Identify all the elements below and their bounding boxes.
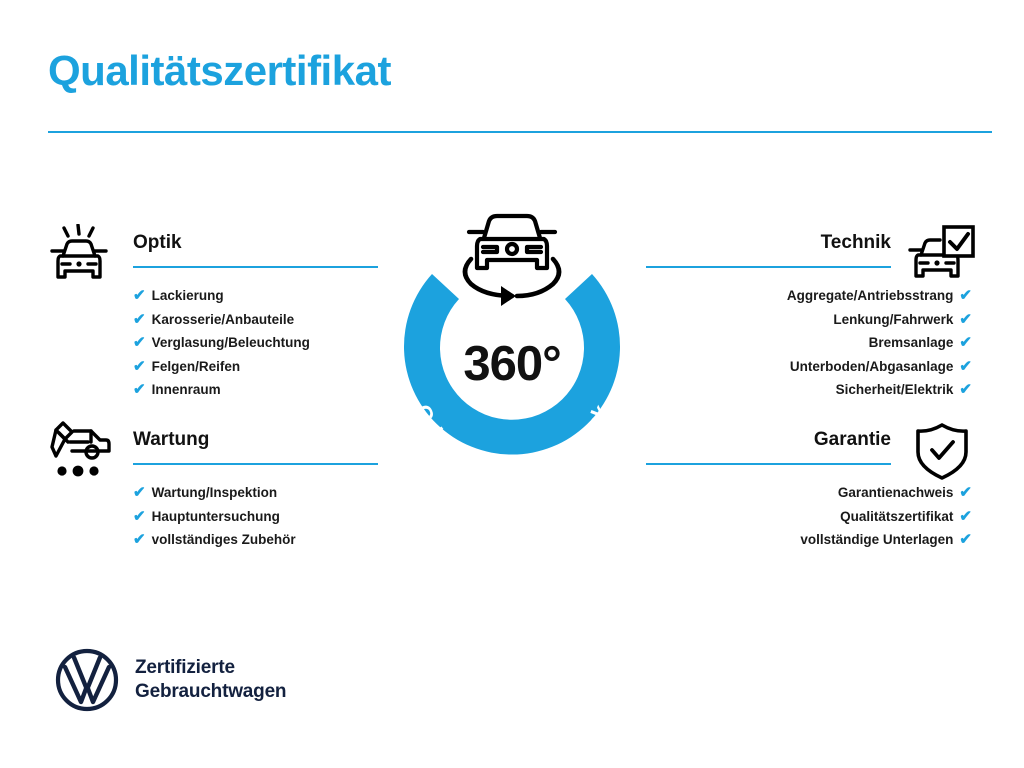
list-item: ✔vollständiges Zubehör <box>48 528 378 552</box>
car-shine-icon <box>48 224 116 286</box>
checklist-garantie: Garantienachweis✔ Qualitätszertifikat✔ v… <box>646 473 976 552</box>
list-item: ✔Karosserie/Anbauteile <box>48 308 378 332</box>
check-icon: ✔ <box>133 532 146 547</box>
list-item: Lenkung/Fahrwerk✔ <box>646 308 976 332</box>
checklist-technik: Aggregate/Antriebsstrang✔ Lenkung/Fahrwe… <box>646 276 976 402</box>
check-icon: ✔ <box>959 382 972 397</box>
checklist-optik: ✔Lackierung ✔Karosserie/Anbauteile ✔Verg… <box>48 276 378 402</box>
section-underline-wartung <box>133 463 378 465</box>
section-underline-optik <box>133 266 378 268</box>
pencil-car-service-icon <box>48 421 116 483</box>
list-item-label: Wartung/Inspektion <box>152 481 278 505</box>
section-underline-technik <box>646 266 891 268</box>
car-checkbox-icon <box>908 224 976 286</box>
list-item: ✔Innenraum <box>48 378 378 402</box>
list-item: Garantienachweis✔ <box>646 481 976 505</box>
check-icon: ✔ <box>133 382 146 397</box>
list-item-label: Lenkung/Fahrwerk <box>833 308 953 332</box>
vw-logo-icon <box>55 648 119 712</box>
checklist-wartung: ✔Wartung/Inspektion ✔Hauptuntersuchung ✔… <box>48 473 378 552</box>
vw-logo-lockup: Zertifizierte Gebrauchtwagen <box>55 648 286 712</box>
list-item-label: Karosserie/Anbauteile <box>152 308 295 332</box>
list-item-label: Garantienachweis <box>838 481 954 505</box>
check-icon: ✔ <box>133 485 146 500</box>
list-item-label: Sicherheit/Elektrik <box>836 378 954 402</box>
section-underline-garantie <box>646 463 891 465</box>
360-check-badge: Gebrauchtwagen-Check 360° <box>378 192 646 484</box>
list-item: Sicherheit/Elektrik✔ <box>646 378 976 402</box>
check-icon: ✔ <box>133 288 146 303</box>
check-icon: ✔ <box>133 312 146 327</box>
section-header-wartung: Wartung <box>48 427 378 473</box>
list-item: ✔Hauptuntersuchung <box>48 505 378 529</box>
list-item-label: Qualitätszertifikat <box>840 505 953 529</box>
list-item-label: Bremsanlage <box>869 331 954 355</box>
page-title: Qualitätszertifikat <box>48 48 391 94</box>
check-icon: ✔ <box>959 288 972 303</box>
check-icon: ✔ <box>959 335 972 350</box>
check-icon: ✔ <box>959 485 972 500</box>
vw-wordmark: Zertifizierte Gebrauchtwagen <box>135 656 286 704</box>
section-header-garantie: Garantie <box>646 427 976 473</box>
list-item: Qualitätszertifikat✔ <box>646 505 976 529</box>
list-item-label: vollständiges Zubehör <box>152 528 296 552</box>
badge-value: 360° <box>378 336 646 392</box>
list-item-label: vollständige Unterlagen <box>800 528 953 552</box>
list-item-label: Aggregate/Antriebsstrang <box>787 284 954 308</box>
section-wartung: Wartung ✔Wartung/Inspektion ✔Hauptunters… <box>48 427 378 552</box>
list-item-label: Hauptuntersuchung <box>152 505 280 529</box>
section-header-technik: Technik <box>646 230 976 276</box>
list-item: ✔Verglasung/Beleuchtung <box>48 331 378 355</box>
check-icon: ✔ <box>959 312 972 327</box>
check-icon: ✔ <box>959 532 972 547</box>
list-item: ✔Wartung/Inspektion <box>48 481 378 505</box>
list-item-label: Innenraum <box>152 378 221 402</box>
check-icon: ✔ <box>133 335 146 350</box>
check-icon: ✔ <box>133 509 146 524</box>
section-optik: Optik ✔Lackierung ✔Karosserie/Anbauteile… <box>48 230 378 402</box>
check-icon: ✔ <box>959 359 972 374</box>
check-icon: ✔ <box>959 509 972 524</box>
list-item: Bremsanlage✔ <box>646 331 976 355</box>
list-item-label: Unterboden/Abgasanlage <box>790 355 954 379</box>
section-garantie: Garantie Garantienachweis✔ Qualitätszert… <box>646 427 976 552</box>
list-item: ✔Lackierung <box>48 284 378 308</box>
vw-wordmark-line1: Zertifizierte <box>135 656 286 680</box>
list-item: Aggregate/Antriebsstrang✔ <box>646 284 976 308</box>
vw-wordmark-line2: Gebrauchtwagen <box>135 680 286 704</box>
list-item: ✔Felgen/Reifen <box>48 355 378 379</box>
list-item: Unterboden/Abgasanlage✔ <box>646 355 976 379</box>
check-icon: ✔ <box>133 359 146 374</box>
title-divider <box>48 131 992 133</box>
list-item-label: Verglasung/Beleuchtung <box>152 331 310 355</box>
list-item-label: Lackierung <box>152 284 224 308</box>
list-item: vollständige Unterlagen✔ <box>646 528 976 552</box>
shield-check-icon <box>908 421 976 483</box>
section-technik: Technik Aggregate/Antriebsstrang✔ Lenkun… <box>646 230 976 402</box>
list-item-label: Felgen/Reifen <box>152 355 241 379</box>
section-header-optik: Optik <box>48 230 378 276</box>
